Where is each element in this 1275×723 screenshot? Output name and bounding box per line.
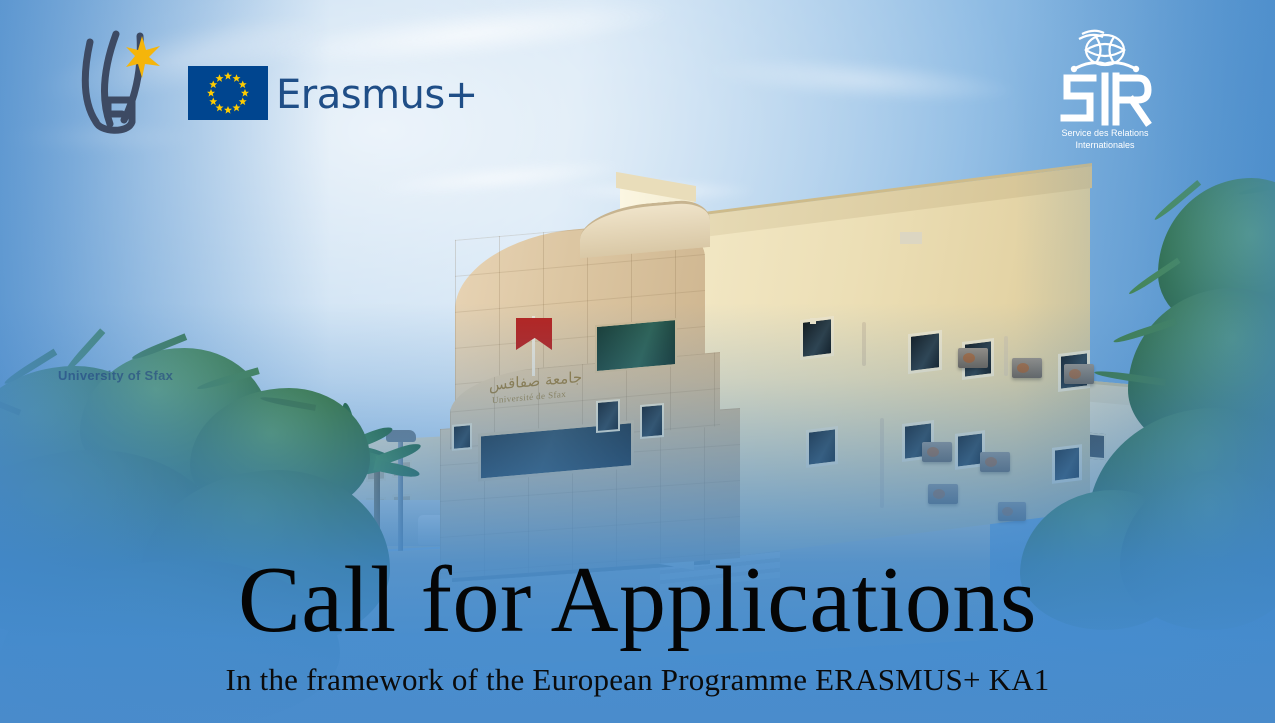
- sri-line1: Service des Relations: [1061, 128, 1149, 138]
- page-subtitle: In the framework of the European Program…: [0, 663, 1275, 697]
- sri-logo: Service des Relations Internationales: [1046, 26, 1164, 156]
- university-watermark: University of Sfax: [58, 368, 173, 383]
- call-for-applications-poster: جامعة صفاقس Université de Sfax: [0, 0, 1275, 723]
- page-title: Call for Applications: [0, 553, 1275, 647]
- sri-line2: Internationales: [1075, 140, 1135, 150]
- sri-monogram-icon: Service des Relations Internationales: [1046, 26, 1164, 156]
- erasmus-wordmark: Erasmus+: [276, 72, 478, 118]
- eu-flag-icon: [188, 66, 268, 120]
- university-of-sfax-logo: [76, 26, 162, 138]
- flame-star-logo-icon: [76, 26, 162, 138]
